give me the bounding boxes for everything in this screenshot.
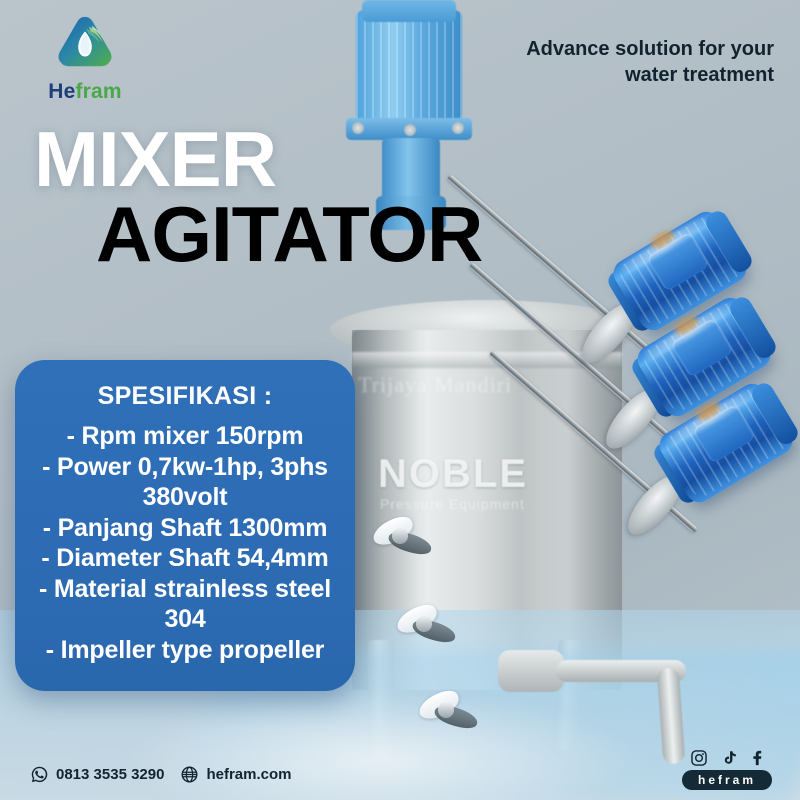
footer-bar: 0813 3535 3290 hefram.com: [0, 742, 800, 800]
tagline-line1: Advance solution for your: [444, 36, 774, 62]
spec-item-material: - Material strainless steel 304: [29, 574, 341, 635]
brand-name-part2: fram: [75, 80, 121, 103]
propeller-impeller: [418, 694, 472, 728]
contact-info: 0813 3535 3290 hefram.com: [30, 765, 291, 784]
photo-watermark: Trijaya Mandiri: [358, 372, 512, 398]
propeller-impeller: [372, 520, 426, 554]
spec-item-shaft-length: - Panjang Shaft 1300mm: [29, 513, 341, 544]
instagram-icon[interactable]: [690, 749, 708, 767]
propeller-hub: [392, 528, 408, 544]
spec-item-shaft-diameter: - Diameter Shaft 54,4mm: [29, 543, 341, 574]
brand-wordmark: Hefram: [30, 80, 140, 104]
propeller-hub: [416, 616, 432, 632]
propeller-hub: [438, 702, 454, 718]
tank-brand-sublabel: Pressure Equipment: [380, 496, 525, 512]
tiktok-icon[interactable]: [721, 749, 738, 767]
social-handle-badge[interactable]: hefram: [682, 770, 772, 790]
website-contact[interactable]: hefram.com: [180, 765, 291, 784]
page-title: MIXER AGITATOR: [34, 124, 554, 272]
social-icon-row: [682, 749, 772, 767]
social-links: hefram: [682, 749, 772, 790]
facebook-icon[interactable]: [751, 749, 763, 767]
spec-item-impeller: - Impeller type propeller: [29, 635, 341, 666]
tagline: Advance solution for your water treatmen…: [444, 36, 774, 89]
tank-gearmotor-cap: [362, 0, 456, 22]
propeller-impeller: [396, 608, 450, 642]
brand-name-part1: He: [48, 80, 75, 103]
spec-list: - Rpm mixer 150rpm - Power 0,7kw-1hp, 3p…: [29, 421, 341, 665]
spec-item-rpm: - Rpm mixer 150rpm: [29, 421, 341, 452]
website-url: hefram.com: [206, 766, 291, 783]
title-line-mixer: MIXER: [34, 124, 554, 196]
phone-number: 0813 3535 3290: [56, 766, 164, 783]
tank-outlet-valve: [498, 650, 564, 692]
whatsapp-contact[interactable]: 0813 3535 3290: [30, 765, 164, 784]
tagline-line2: water treatment: [444, 62, 774, 88]
globe-icon: [180, 765, 199, 784]
title-line-agitator: AGITATOR: [96, 196, 554, 272]
poster-canvas: Trijaya Mandiri NOBLE Pressure Equipment: [0, 0, 800, 800]
tank-brand-label: NOBLE: [378, 452, 528, 497]
brand-logo[interactable]: Hefram: [30, 14, 140, 104]
spec-heading: SPESIFIKASI :: [29, 382, 341, 411]
whatsapp-icon: [30, 765, 49, 784]
hefram-triangle-droplet-logo: [54, 14, 116, 72]
specification-panel: SPESIFIKASI : - Rpm mixer 150rpm - Power…: [15, 360, 355, 691]
spec-item-power: - Power 0,7kw-1hp, 3phs 380volt: [29, 452, 341, 513]
